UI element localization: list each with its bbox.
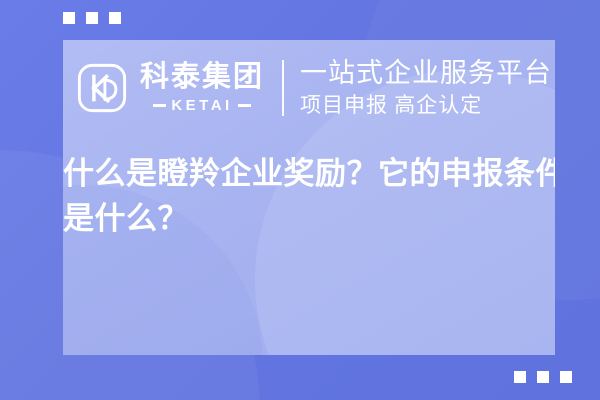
- brand-rule-right-icon: [238, 104, 251, 107]
- brand-text: 科泰集团 KETAI: [140, 63, 264, 113]
- square-dot-icon: [537, 371, 549, 383]
- promo-banner: 科泰集团 KETAI 一站式企业服务平台 项目申报 高企认定 什么是瞪羚企业奖励…: [0, 0, 600, 400]
- headline-title: 什么是瞪羚企业奖励？它的申报条件是什么？: [63, 152, 555, 242]
- decorative-dots-bottom: [514, 371, 572, 383]
- square-dot-icon: [514, 371, 526, 383]
- square-dot-icon: [63, 12, 75, 24]
- square-dot-icon: [109, 12, 121, 24]
- brand-name-en-row: KETAI: [153, 98, 250, 113]
- square-dot-icon: [560, 371, 572, 383]
- decorative-dots-top: [63, 12, 121, 24]
- vertical-divider: [282, 60, 284, 116]
- tagline-main: 一站式企业服务平台: [300, 58, 552, 88]
- banner-header-row: 科泰集团 KETAI 一站式企业服务平台 项目申报 高企认定: [73, 46, 555, 130]
- brand-rule-left-icon: [153, 104, 166, 107]
- brand-name-cn: 科泰集团: [140, 63, 264, 92]
- square-dot-icon: [86, 12, 98, 24]
- ketai-kd-monogram-icon: [73, 59, 131, 117]
- tagline-block: 一站式企业服务平台 项目申报 高企认定: [300, 58, 552, 118]
- brand-name-en: KETAI: [171, 98, 232, 113]
- brand-lockup: 科泰集团 KETAI: [73, 59, 264, 117]
- tagline-sub: 项目申报 高企认定: [300, 93, 552, 118]
- content-panel: 科泰集团 KETAI 一站式企业服务平台 项目申报 高企认定 什么是瞪羚企业奖励…: [63, 40, 555, 355]
